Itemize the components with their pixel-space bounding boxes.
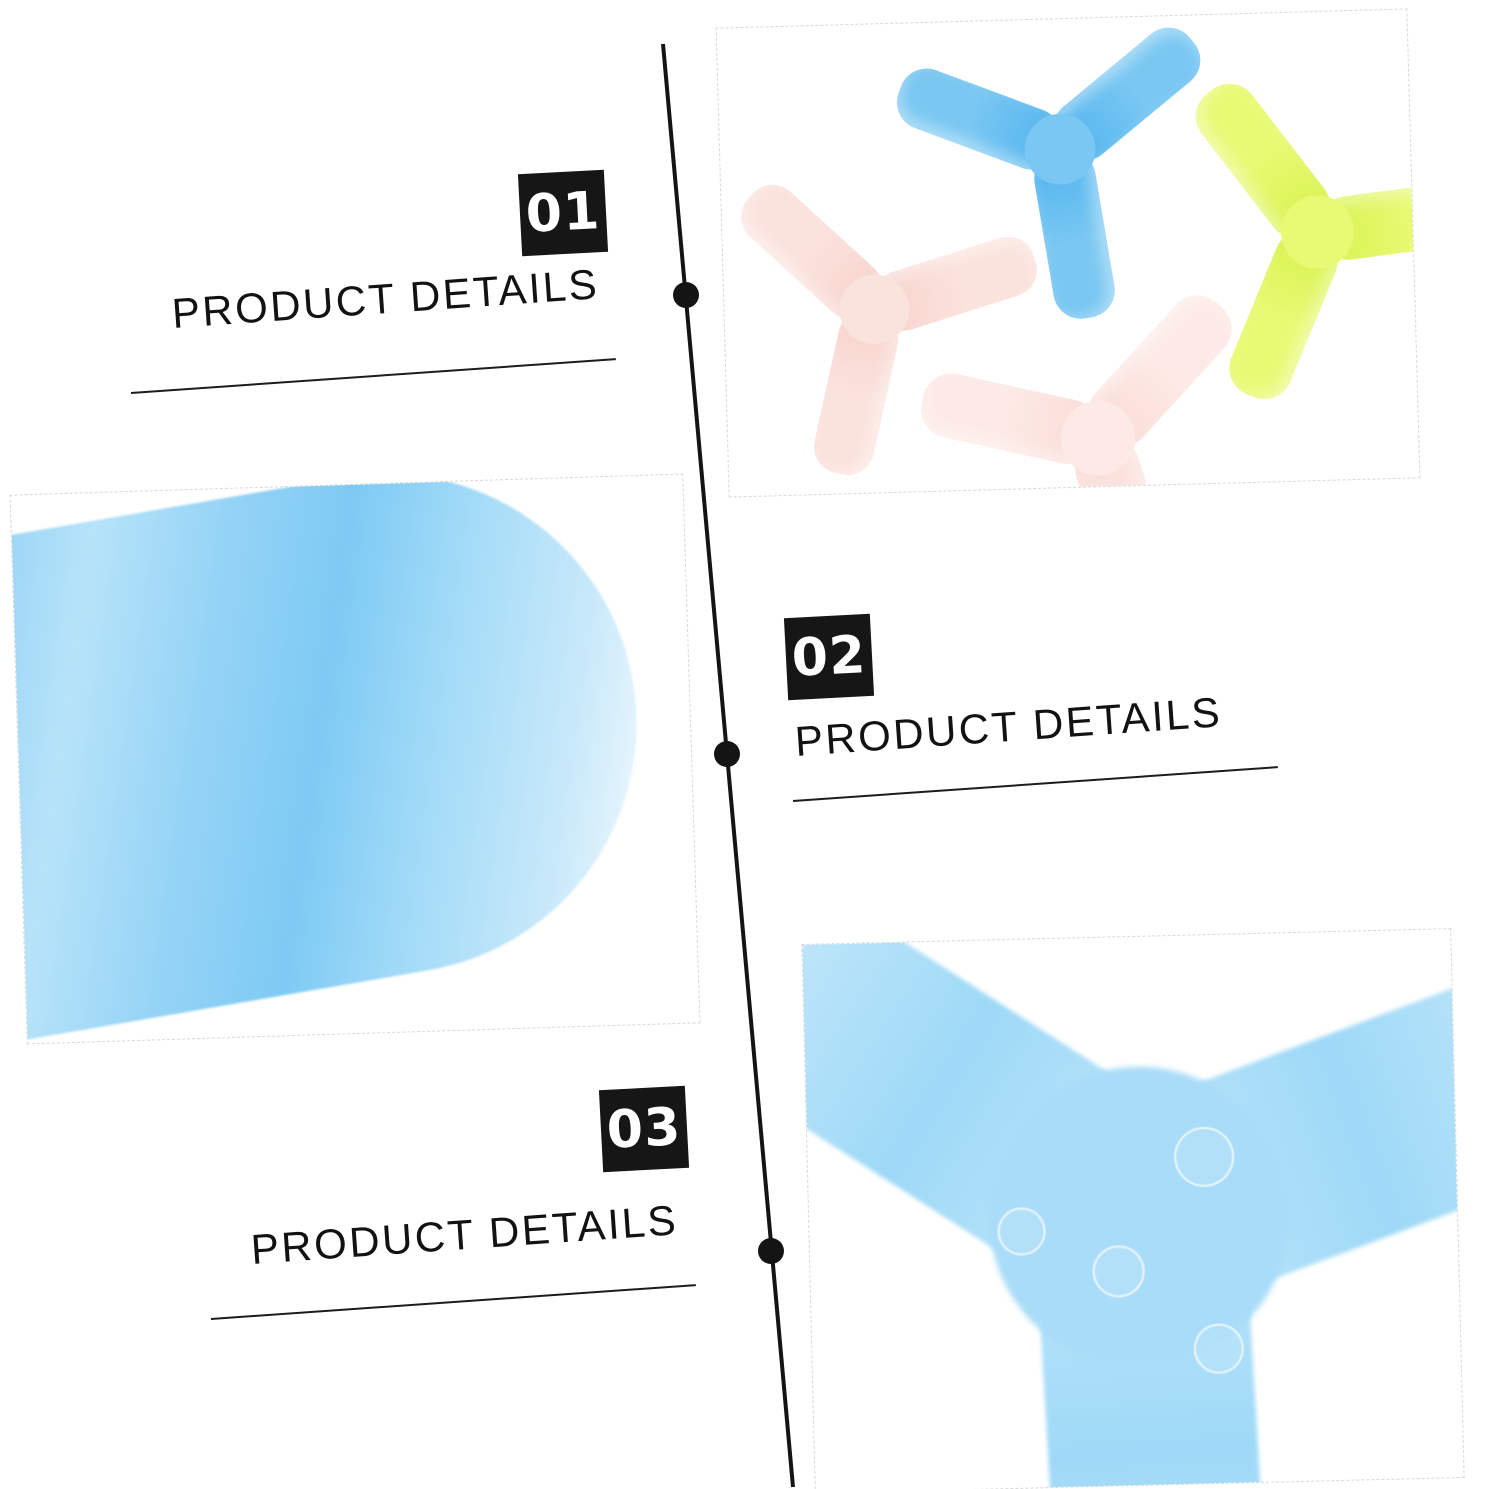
timeline-node-03[interactable] xyxy=(758,1238,784,1264)
photo-hub xyxy=(802,929,1463,1489)
step-number-badge-02: 02 xyxy=(784,614,874,700)
photo-blade-tip xyxy=(11,475,700,1044)
timeline-node-01[interactable] xyxy=(673,282,699,308)
infographic-canvas: 01 PRODUCT DETAILS 02 PRODUCT DETAILS 03… xyxy=(0,0,1500,1489)
step-title-02: PRODUCT DETAILS xyxy=(793,688,1223,766)
photo-boomerang-group xyxy=(717,9,1420,496)
photo-frame-hub xyxy=(801,928,1464,1489)
photo-frame-boomerang-group xyxy=(716,8,1421,497)
step-title-01: PRODUCT DETAILS xyxy=(170,260,600,338)
photo-frame-blade-tip xyxy=(10,474,701,1045)
hub-stage xyxy=(802,929,1463,1489)
step-underline-01 xyxy=(131,358,616,394)
step-number-badge-03: 03 xyxy=(599,1086,689,1172)
timeline-node-02[interactable] xyxy=(714,741,740,767)
step-title-03: PRODUCT DETAILS xyxy=(249,1196,679,1274)
blue-blade-tip xyxy=(11,475,676,1044)
boomerang-stage xyxy=(717,9,1420,496)
step-number-badge-01: 01 xyxy=(518,170,608,256)
step-underline-03 xyxy=(211,1284,696,1320)
step-underline-02 xyxy=(793,766,1278,802)
